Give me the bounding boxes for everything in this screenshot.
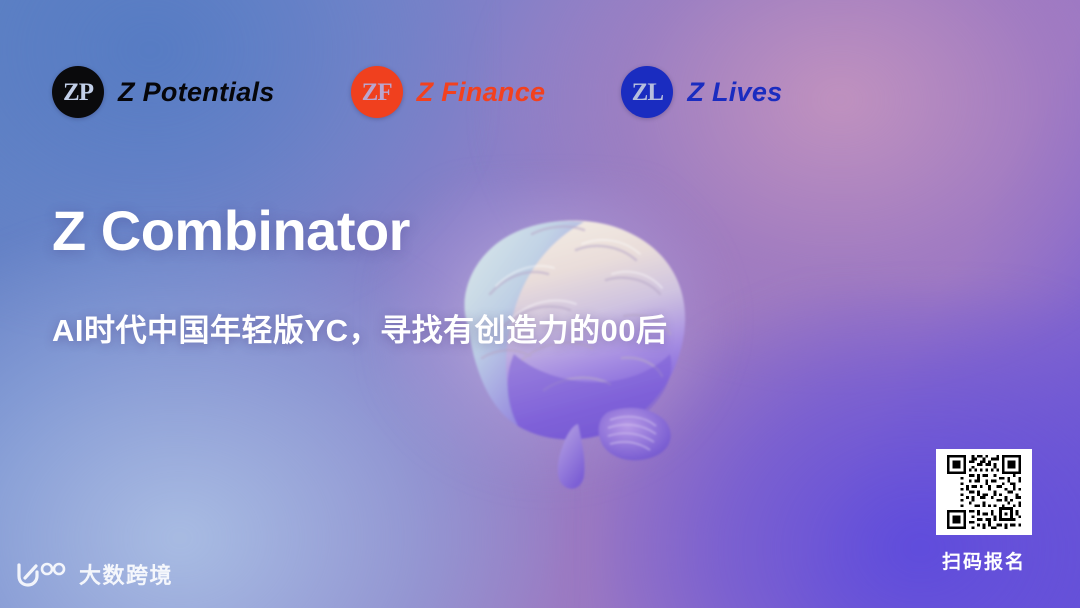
watermark-label: 大数跨境 <box>79 558 173 590</box>
poster-subheadline: AI时代中国年轻版YC，寻找有创造力的00后 <box>52 313 668 349</box>
poster-canvas: ZP Z Potentials ZF Z Finance ZL Z Lives … <box>0 0 1080 608</box>
zf-monogram: ZF <box>362 80 392 105</box>
zp-monogram: ZP <box>63 80 93 105</box>
qr-caption: 扫码报名 <box>942 547 1026 574</box>
qr-code-icon[interactable] <box>936 449 1032 535</box>
zl-circle-badge-icon: ZL <box>621 66 673 118</box>
brand-logo-row: ZP Z Potentials ZF Z Finance ZL Z Lives <box>52 66 783 118</box>
qr-registration-block[interactable]: 扫码报名 <box>936 449 1032 574</box>
brand-label-z-potentials: Z Potentials <box>118 77 275 108</box>
zf-circle-badge-icon: ZF <box>351 66 403 118</box>
brand-z-lives[interactable]: ZL Z Lives <box>621 66 782 118</box>
brand-z-potentials[interactable]: ZP Z Potentials <box>52 66 275 118</box>
watermark: 大数跨境 <box>14 558 173 590</box>
brand-z-finance[interactable]: ZF Z Finance <box>351 66 546 118</box>
brand-label-z-finance: Z Finance <box>417 77 546 108</box>
background-glow-bottom-left <box>0 228 560 608</box>
zl-monogram: ZL <box>632 80 663 105</box>
zp-circle-badge-icon: ZP <box>52 66 104 118</box>
k-infinity-logo-icon <box>14 559 68 589</box>
brand-label-z-lives: Z Lives <box>687 77 782 108</box>
poster-headline: Z Combinator <box>52 203 410 259</box>
